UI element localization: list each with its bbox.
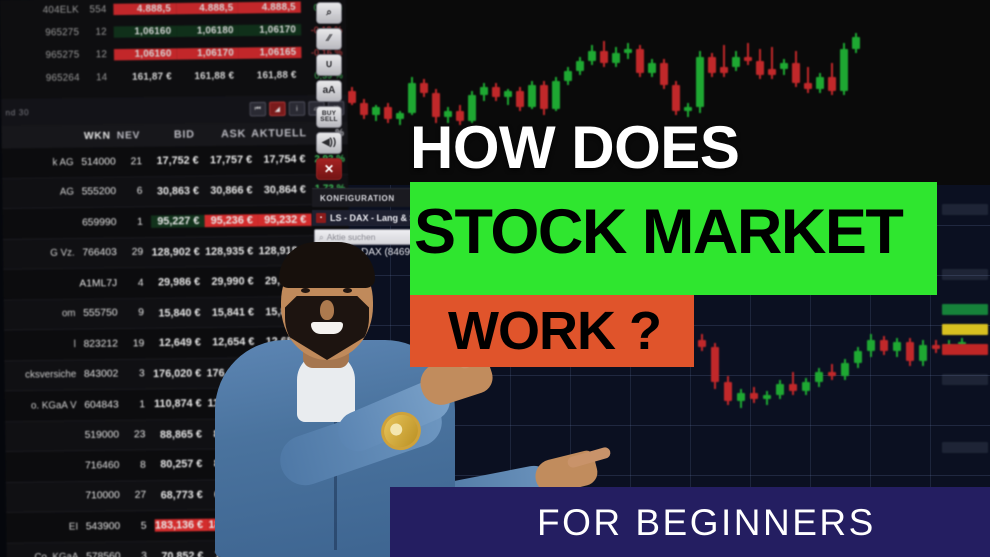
candle (828, 364, 836, 381)
headline-line-1: HOW DOES (410, 118, 739, 178)
candle-body (828, 77, 836, 91)
candle-body (624, 49, 632, 53)
column-header[interactable]: WKN (73, 130, 117, 142)
candle (492, 83, 500, 101)
candle (802, 378, 810, 395)
cell-wkn: 543900 (81, 520, 126, 532)
cell-nev: 3 (124, 368, 153, 380)
youtube-thumbnail: 404ELK5544.888,54.888,54.888,50,33 %9652… (0, 0, 990, 557)
cell-aktuell: 4.888,5 (238, 1, 301, 13)
text-tool-icon[interactable]: aA (316, 80, 342, 102)
candle-body (420, 83, 428, 93)
candle-body (789, 384, 797, 390)
candle-body (408, 83, 416, 113)
table-row[interactable]: 96526414161,87 €161,88 €161,88 €0,39 % (1, 64, 347, 90)
cell-name: Co. KGaA (7, 551, 82, 557)
candle-body (698, 340, 706, 346)
candle-body (552, 81, 560, 109)
candle-body (612, 53, 620, 63)
candle-body (372, 107, 380, 115)
cell-nev: 29 (123, 247, 152, 259)
cell-nev: 9 (124, 307, 153, 319)
headline-line-2: STOCK MARKET (414, 199, 902, 265)
candle-body (492, 87, 500, 97)
candle-body (906, 342, 914, 361)
candle-body (840, 49, 848, 91)
price-tag (942, 442, 988, 453)
candle (841, 359, 849, 380)
cell-aktuell: 30,864 € (258, 183, 312, 196)
cell-name: G Vz. (3, 248, 78, 260)
cell-wkn: 965275 (1, 49, 86, 61)
cell-nev: 12 (86, 49, 115, 61)
column-header[interactable]: AKTUELL (251, 127, 312, 140)
candle (732, 51, 740, 71)
candle-body (815, 372, 823, 383)
nose (320, 300, 334, 320)
candle (576, 57, 584, 75)
cell-nev: 8 (126, 459, 155, 471)
candle-wick (792, 372, 794, 395)
cell-wkn: 710000 (81, 490, 126, 502)
candle (528, 81, 536, 109)
candle-body (384, 107, 392, 119)
candle (408, 77, 416, 115)
cell-bid: 1,06160 (114, 26, 177, 38)
candle (636, 45, 644, 77)
cell-bid: 4.888,5 (114, 3, 177, 15)
candle (552, 77, 560, 111)
cell-aktuell: 95,232 € (258, 214, 312, 227)
candle (776, 380, 784, 399)
cell-nev: 6 (122, 186, 151, 198)
cell-nev: 1 (125, 399, 154, 411)
headline-line-3: WORK ? (448, 301, 661, 361)
candle-body (576, 61, 584, 71)
candle (672, 81, 680, 115)
cell-nev: 4 (123, 277, 152, 289)
candle (660, 59, 668, 89)
candle (516, 87, 524, 111)
column-header[interactable]: BID (148, 128, 200, 141)
column-header[interactable]: ASK (200, 128, 252, 141)
candle-wick (747, 43, 749, 65)
cell-name: k AG (2, 156, 77, 168)
cell-ask: 1,06170 (177, 48, 240, 60)
left-eye (301, 288, 310, 293)
candle-body (816, 77, 824, 89)
cell-wkn: 604843 (80, 399, 125, 411)
price-tag (942, 304, 988, 315)
cell-wkn: 965264 (1, 72, 86, 84)
cell-wkn: 965275 (0, 27, 85, 39)
cell-wkn: 404ELK (0, 4, 85, 16)
cell-name: cksversiche (5, 369, 80, 381)
configuration-text: KONFIGURATION (320, 194, 395, 203)
cell-nev: 12 (85, 26, 114, 38)
cell-name (6, 496, 81, 497)
price-tag (942, 374, 988, 385)
candle (804, 67, 812, 93)
candle (867, 334, 875, 357)
cell-nev: 21 (122, 156, 151, 168)
candle-body (737, 393, 745, 401)
table-row[interactable]: k AG5140002117,752 €17,757 €17,754 €2,92… (2, 144, 348, 179)
candle (698, 334, 706, 351)
watchlist-toolbar[interactable]: nd 30 ⏮ ◢ i ▱ ✕ (1, 95, 347, 126)
cell-wkn: 843002 (79, 369, 124, 381)
candle-body (724, 382, 732, 401)
cell-name (5, 436, 80, 437)
ticker-icon: ▪ (316, 213, 326, 223)
candle-body (564, 71, 572, 81)
chart-tool-column[interactable]: ⌕ ∕∕ ∪ aA BUY SELL ◀)) ✕ (314, 2, 344, 182)
cell-bid: 95,227 € (151, 215, 205, 228)
candle-body (880, 340, 888, 351)
candle (396, 111, 404, 125)
ticker-label: LS - DAX - Lang & S (330, 213, 416, 223)
candle (768, 47, 776, 79)
cell-aktuell: 161,88 € (239, 69, 302, 81)
cell-nev: 1 (123, 216, 152, 228)
cell-wkn: 659990 (77, 217, 122, 229)
candle-body (600, 51, 608, 63)
price-tag (942, 344, 988, 355)
cell-wkn: 578560 (81, 551, 126, 557)
cell-name: om (4, 308, 79, 320)
candle-body (867, 340, 875, 351)
cell-nev: 3 (127, 550, 156, 557)
candle-body (732, 57, 740, 67)
cell-aktuell: 17,754 € (257, 153, 311, 166)
candle-body (360, 103, 368, 115)
candle (893, 338, 901, 357)
candle-body (744, 57, 752, 61)
candle-body (348, 91, 356, 103)
cell-name: AG (2, 187, 77, 199)
cell-aktuell: 1,06170 (239, 24, 302, 36)
smile (311, 322, 343, 334)
cell-wkn: 823212 (79, 338, 124, 350)
candle (750, 387, 758, 404)
cell-nev: 5 (126, 520, 155, 532)
candle (480, 83, 488, 101)
candle (724, 376, 732, 405)
candle (840, 43, 848, 95)
candle-body (893, 342, 901, 350)
cell-nev: 19 (124, 338, 153, 350)
candle-body (684, 107, 692, 111)
cell-wkn: 519000 (80, 429, 125, 441)
right-eye (343, 288, 352, 293)
cell-name: l (4, 339, 79, 351)
candle-body (763, 395, 771, 399)
candle-body (852, 37, 860, 49)
candle (564, 67, 572, 85)
cell-ask: 161,88 € (177, 70, 240, 82)
candle-body (516, 91, 524, 107)
cell-bid: 161,87 € (114, 71, 177, 83)
candle (540, 81, 548, 115)
candle (780, 59, 788, 75)
candle-body (540, 85, 548, 109)
candle (504, 89, 512, 105)
candle (696, 51, 704, 113)
table-row[interactable]: 659990195,227 €95,236 €95,232 €1,53 % (3, 205, 349, 240)
price-tag (942, 269, 988, 280)
candle-body (919, 345, 927, 362)
cell-bid: 17,752 € (150, 154, 204, 167)
cell-ask: 17,757 € (204, 154, 258, 167)
candle (744, 43, 752, 65)
candle-body (802, 382, 810, 390)
cell-name: EI (6, 521, 81, 533)
candle-body (672, 85, 680, 111)
candle (372, 105, 380, 121)
candle (906, 338, 914, 365)
price-tag (942, 324, 988, 335)
cell-bid: 1,06160 (114, 48, 177, 60)
candle-body (396, 113, 404, 119)
candle-body (841, 363, 849, 376)
candle (737, 389, 745, 408)
cell-bid: 30,863 € (151, 185, 205, 198)
cell-name: o. KGaA V (5, 399, 80, 411)
candle-body (756, 61, 764, 75)
trendline-icon[interactable]: ∕∕ (316, 28, 342, 50)
alert-icon[interactable]: ◢ (269, 102, 286, 117)
candle-body (792, 63, 800, 83)
candle (816, 73, 824, 93)
cell-name (6, 466, 81, 467)
candle (612, 47, 620, 67)
cell-ask: 30,866 € (204, 184, 258, 197)
cell-ask: 4.888,5 (176, 2, 239, 14)
candle-body (804, 83, 812, 89)
candle (763, 391, 771, 406)
candle-body (636, 49, 644, 73)
cell-name (3, 223, 78, 224)
price-axis-tags (938, 0, 990, 557)
candle (792, 51, 800, 87)
candle (815, 368, 823, 387)
candle (600, 41, 608, 67)
candle-body (711, 347, 719, 383)
cell-wkn: 766403 (78, 247, 123, 259)
table-row[interactable]: 965275121,061601,061701,06165-0,16 % (1, 41, 347, 67)
table-row[interactable]: AG555200630,863 €30,866 €30,864 €1,73 % (2, 174, 348, 209)
candle (720, 45, 728, 77)
candle-body (708, 57, 716, 73)
cell-name (3, 284, 78, 285)
cell-wkn: 514000 (77, 156, 122, 168)
candle (588, 45, 596, 65)
search-icon[interactable]: ⌕ (316, 2, 342, 24)
candle (711, 343, 719, 389)
cell-wkn: 716460 (80, 460, 125, 472)
candle-body (768, 69, 776, 75)
cell-wkn: 555200 (77, 186, 122, 198)
candle-body (504, 91, 512, 97)
cell-aktuell: 1,06165 (239, 47, 302, 59)
candle-body (750, 393, 758, 399)
watchlist-top-rows: 404ELK5544.888,54.888,54.888,50,33 %9652… (0, 0, 347, 99)
cell-nev: 554 (85, 4, 114, 16)
price-tag (942, 204, 988, 215)
candle-body (588, 51, 596, 61)
candle-body (648, 63, 656, 73)
candle (919, 340, 927, 365)
curve-icon[interactable]: ∪ (316, 54, 342, 76)
cell-nev: 27 (126, 490, 155, 502)
cell-nev: 23 (125, 429, 154, 441)
candle-body (720, 67, 728, 73)
candle (648, 59, 656, 77)
cell-ask: 95,236 € (204, 214, 258, 227)
sound-icon[interactable]: ◀)) (316, 132, 342, 154)
cell-ask: 1,06180 (176, 25, 239, 37)
column-header[interactable]: NEV (117, 130, 149, 142)
cell-wkn: 555750 (79, 308, 124, 320)
first-icon[interactable]: ⏮ (249, 102, 266, 117)
candle-body (854, 351, 862, 364)
candle-body (696, 57, 704, 107)
candle (828, 63, 836, 95)
candle (789, 372, 797, 395)
buy-sell-icon[interactable]: BUY SELL (316, 106, 342, 128)
candle (854, 347, 862, 368)
info-icon[interactable]: i (289, 101, 306, 116)
candle-body (828, 372, 836, 376)
cell-wkn: A1ML7J (78, 277, 123, 289)
candle (624, 43, 632, 59)
candle-body (480, 87, 488, 95)
candle-body (660, 63, 668, 85)
table-row[interactable]: 965275121,061601,061801,06170-0,18 % (0, 18, 346, 44)
close-icon[interactable]: ✕ (316, 158, 342, 180)
candle (880, 336, 888, 355)
subtitle-text: FOR BEGINNERS (537, 503, 876, 543)
candle (384, 103, 392, 123)
candle (420, 79, 428, 97)
candle-wick (807, 67, 809, 93)
candle-body (528, 85, 536, 107)
candle-body (780, 63, 788, 69)
cell-nev: 14 (86, 72, 115, 84)
candle (360, 99, 368, 119)
sell-label: SELL (320, 117, 337, 124)
candle (756, 49, 764, 79)
candle (708, 53, 716, 77)
column-header[interactable] (2, 136, 74, 137)
candle (348, 87, 356, 105)
toolbar-spacer (29, 109, 249, 112)
candle (852, 33, 860, 53)
panel-label: nd 30 (1, 107, 29, 117)
candle-body (776, 384, 784, 395)
hair (279, 242, 375, 288)
